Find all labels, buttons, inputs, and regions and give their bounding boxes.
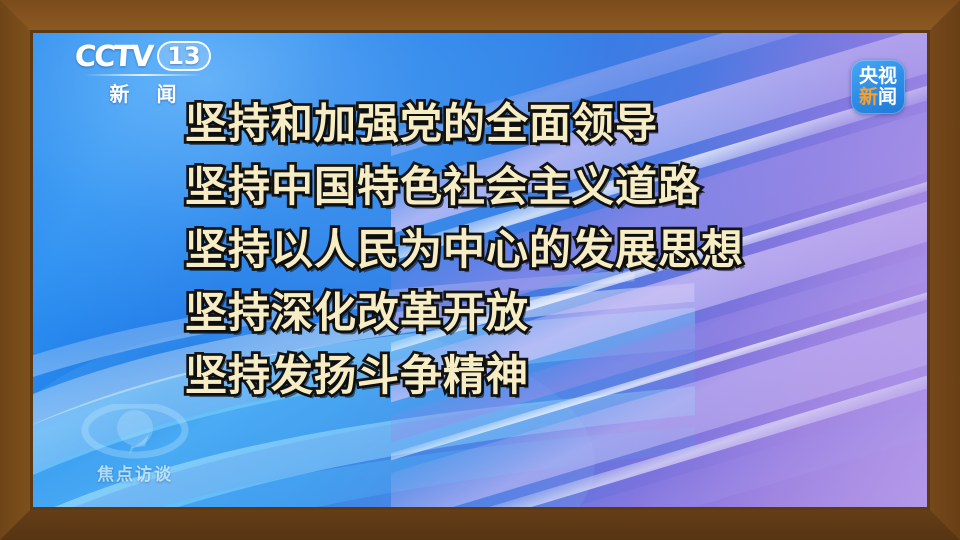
headline-item: 坚持深化改革开放 — [185, 284, 867, 342]
headline-item: 坚持以人民为中心的发展思想 — [185, 221, 867, 279]
cctv-logo-row: CCTV 13 — [53, 39, 233, 73]
speech-bubble-icon — [69, 404, 201, 462]
headline-item: 坚持和加强党的全面领导 — [185, 95, 867, 153]
program-watermark: 焦点访谈 — [69, 404, 201, 485]
news-badge-line-1: 央视 — [859, 66, 897, 87]
cctv-wordmark: CCTV — [74, 39, 153, 73]
news-badge-rest-char: 闻 — [878, 86, 897, 108]
cctv-channel-number: 13 — [157, 41, 210, 71]
headline-item: 坚持中国特色社会主义道路 — [185, 158, 867, 216]
cctv-logo-underline — [84, 74, 202, 76]
broadcast-screenshot: CCTV 13 新 闻 央视 新闻 坚持和加强党的全面领导 坚持中国特色社会主义… — [0, 0, 960, 540]
program-watermark-label: 焦点访谈 — [69, 460, 201, 485]
headline-item: 坚持发扬斗争精神 — [185, 347, 867, 405]
headline-list: 坚持和加强党的全面领导 坚持中国特色社会主义道路 坚持以人民为中心的发展思想 坚… — [185, 95, 867, 405]
content-screen: CCTV 13 新 闻 央视 新闻 坚持和加强党的全面领导 坚持中国特色社会主义… — [33, 33, 927, 507]
